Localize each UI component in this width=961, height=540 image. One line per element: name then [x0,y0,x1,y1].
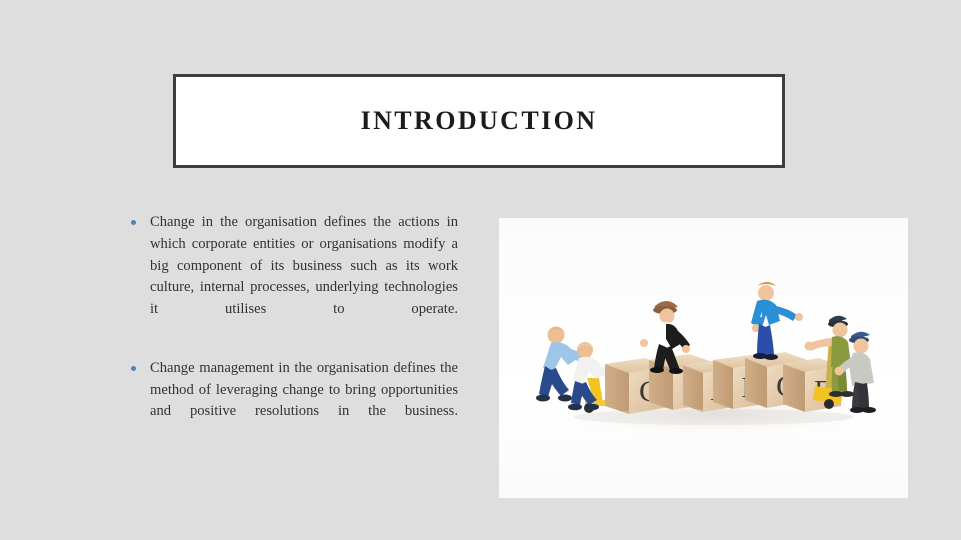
list-item: Change management in the organisation de… [128,358,458,445]
change-blocks-illustration: C H A N [499,218,908,498]
title-box: INTRODUCTION [173,74,785,168]
body-content: Change in the organisation defines the a… [128,212,458,445]
page-title: INTRODUCTION [361,108,598,134]
list-item: Change in the organisation defines the a… [128,212,458,343]
slide: INTRODUCTION Change in the organisation … [0,0,961,540]
change-blocks-image: C H A N [499,218,908,498]
bullet-text: Change management in the organisation de… [150,358,458,445]
bullet-dot-icon [131,366,136,371]
bullet-text: Change in the organisation defines the a… [150,212,458,343]
bullet-dot-icon [131,220,136,225]
